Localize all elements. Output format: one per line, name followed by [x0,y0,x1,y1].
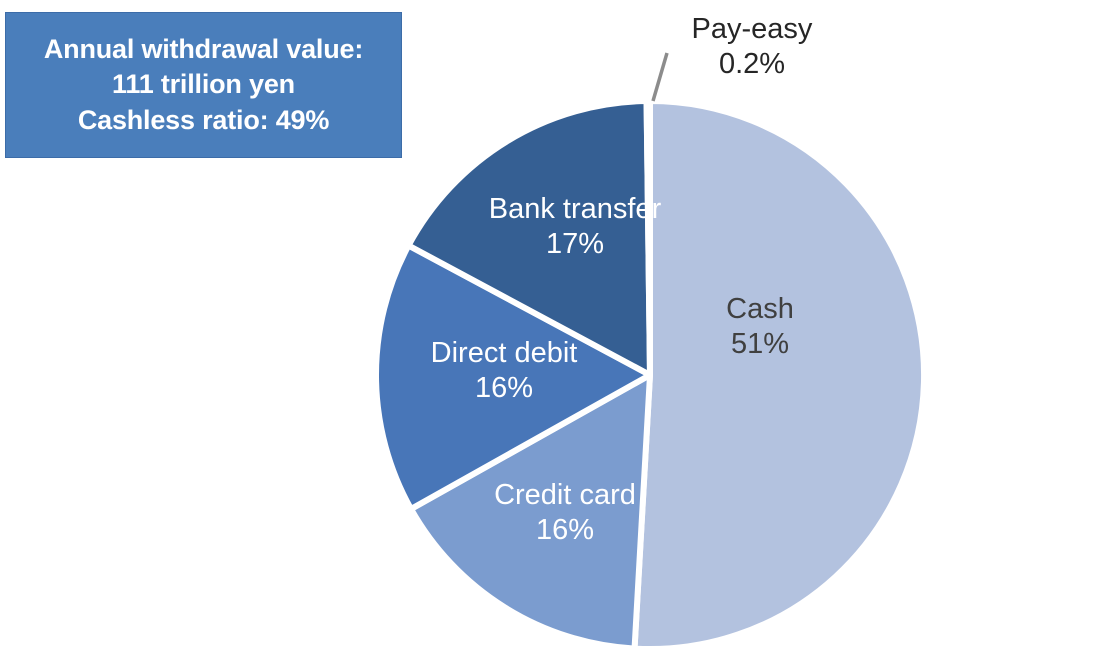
pie-chart: Cash 51% Credit card 16% Direct debit 16… [0,0,1120,668]
slice-label-pay-easy-value: 0.2% [632,47,872,82]
slice-label-pay-easy: Pay-easy 0.2% [632,12,872,83]
pie-slice-pay-easy[interactable] [647,101,650,375]
pie-slice-cash[interactable] [635,101,925,649]
slice-label-pay-easy-name: Pay-easy [632,12,872,47]
pie-slices-group [376,101,924,649]
pie-chart-svg [0,0,1120,668]
